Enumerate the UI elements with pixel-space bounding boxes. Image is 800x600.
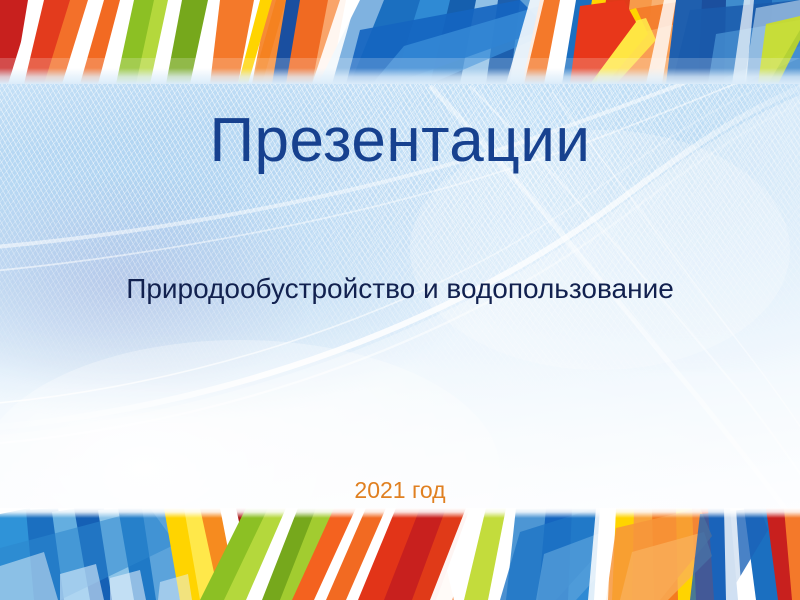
slide-title: Презентации [0, 108, 800, 173]
decorative-border-top [0, 0, 800, 84]
decorative-border-bottom [0, 508, 800, 600]
slide-subtitle: Природообустройство и водопользование [0, 272, 800, 306]
presentation-title-slide: Презентации Природообустройство и водопо… [0, 0, 800, 600]
slide-year: 2021 год [0, 477, 800, 505]
